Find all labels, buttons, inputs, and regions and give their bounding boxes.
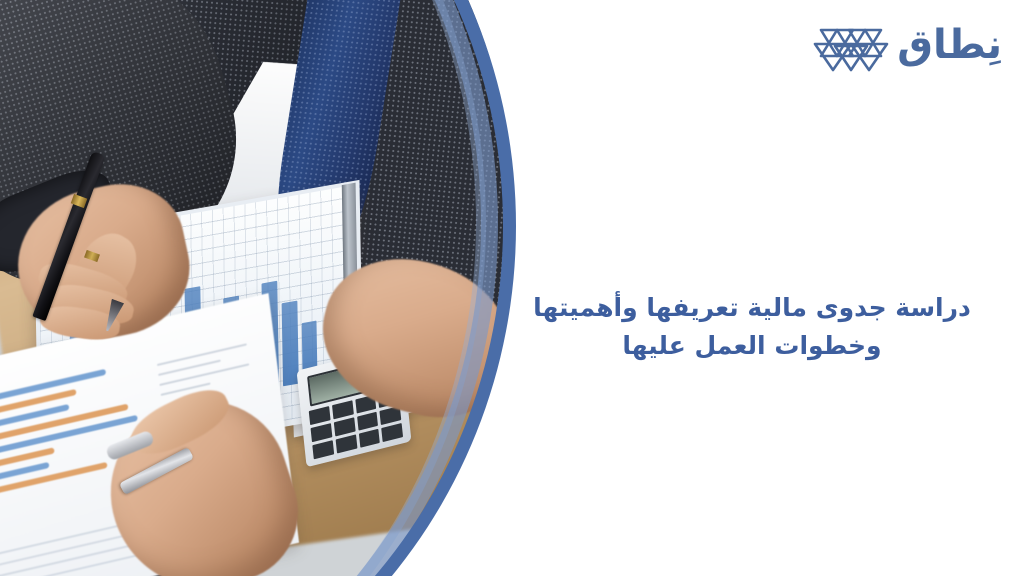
triangle-lattice-icon — [813, 18, 889, 72]
logo-wordmark: نِطاق — [897, 25, 1002, 65]
brand-logo[interactable]: نِطاق — [813, 18, 1002, 72]
headline-line-1: دراسة جدوى مالية تعريفها وأهميتها — [500, 289, 1004, 327]
page-title: دراسة جدوى مالية تعريفها وأهميتها وخطوات… — [500, 289, 1004, 365]
headline-line-2: وخطوات العمل عليها — [500, 327, 1004, 365]
slide-canvas: نِطاق دراسة جدوى مالية تعريفها وأهميتها … — [0, 0, 1024, 576]
